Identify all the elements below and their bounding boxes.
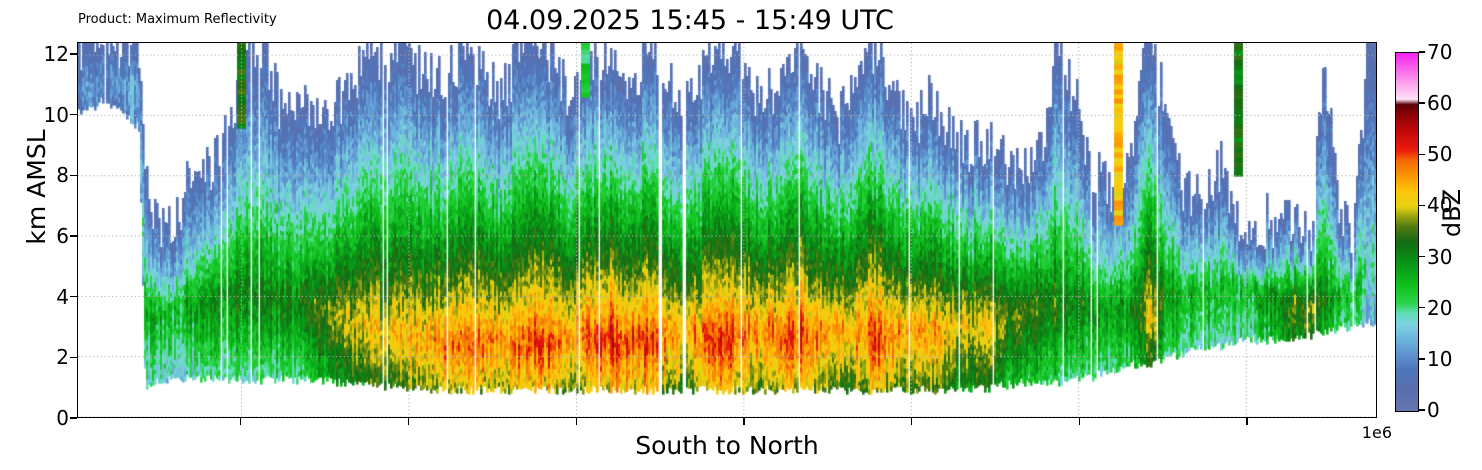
- colorbar-tick-label: 10: [1427, 349, 1452, 369]
- colorbar-tick-mark: [1419, 307, 1425, 308]
- x-tick-mark: [240, 418, 241, 425]
- x-tick-mark: [408, 418, 409, 425]
- colorbar-tick-label: 0: [1427, 400, 1440, 420]
- y-tick-mark: [70, 114, 77, 115]
- y-tick-label: 6: [56, 226, 69, 246]
- y-tick-mark: [70, 53, 77, 54]
- colorbar-tick-mark: [1419, 51, 1425, 52]
- y-tick-label: 2: [56, 347, 69, 367]
- colorbar-tick-mark: [1419, 409, 1425, 410]
- x-tick-mark: [1246, 418, 1247, 425]
- x-tick-mark: [1079, 418, 1080, 425]
- y-tick-mark: [70, 357, 77, 358]
- x-tick-mark: [743, 418, 744, 425]
- colorbar-tick-mark: [1419, 102, 1425, 103]
- x-tick-mark: [576, 418, 577, 425]
- colorbar-tick-label: 60: [1427, 93, 1452, 113]
- reflectivity-heatmap-canvas: [78, 43, 1377, 418]
- colorbar-tick-mark: [1419, 358, 1425, 359]
- colorbar-gradient: [1396, 53, 1418, 411]
- colorbar: [1395, 52, 1419, 412]
- y-tick-mark: [70, 175, 77, 176]
- radar-cross-section-figure: Product: Maximum Reflectivity 04.09.2025…: [0, 0, 1482, 470]
- y-tick-mark: [70, 296, 77, 297]
- y-tick-label: 12: [44, 44, 69, 64]
- page-title: 04.09.2025 15:45 - 15:49 UTC: [0, 5, 1380, 37]
- colorbar-tick-mark: [1419, 205, 1425, 206]
- x-tick-mark: [911, 418, 912, 425]
- y-tick-label: 8: [56, 165, 69, 185]
- y-tick-mark: [70, 417, 77, 418]
- colorbar-tick-mark: [1419, 154, 1425, 155]
- y-axis-label: km AMSL: [24, 92, 50, 282]
- plot-area: [77, 42, 1377, 418]
- colorbar-tick-label: 20: [1427, 298, 1452, 318]
- colorbar-tick-mark: [1419, 256, 1425, 257]
- y-tick-label: 4: [56, 287, 69, 307]
- x-axis-offset-label: 1e6: [1300, 424, 1392, 442]
- colorbar-tick-label: 70: [1427, 42, 1452, 62]
- y-tick-mark: [70, 235, 77, 236]
- colorbar-label: dBZ: [1439, 133, 1465, 293]
- y-tick-label: 0: [56, 408, 69, 428]
- x-axis-label: South to North: [77, 431, 1377, 461]
